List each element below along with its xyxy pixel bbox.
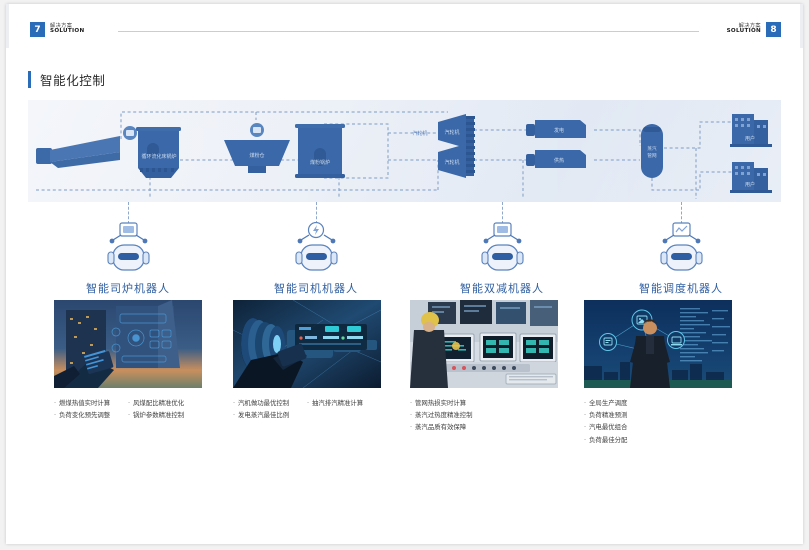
diagram-label-user-2: 用户 [745, 181, 755, 188]
card-bullets-3: 管网热损实时计算 蒸汽过热度精准控制 蒸汽品质有效保障 [410, 397, 558, 434]
page-title: 智能化控制 [40, 70, 106, 89]
robot-label-3: 智能双减机器人 [408, 280, 596, 296]
diagram-label-turbine-1: 汽轮机 [444, 129, 459, 136]
card-photo-2 [233, 300, 381, 388]
diagram-label-turbine-2: 汽轮机 [444, 159, 459, 166]
card-photo-3 [410, 300, 558, 388]
diagram-label-steam-header-1: 蒸汽 [647, 145, 657, 152]
bullet-item: 发电蒸汽最佳比例 [233, 409, 307, 421]
robot-row: 智能司炉机器人 智能司机机器人 [28, 202, 781, 298]
diagram-label-generator-1: 发电 [554, 127, 564, 134]
header-left-badge: 7 [30, 22, 45, 37]
header-edge-right [800, 4, 803, 48]
bullet-item: 负荷精准预测 [584, 409, 732, 421]
robot-icon-2 [288, 222, 344, 280]
section-title: 智能化控制 [28, 70, 106, 89]
robot-label-1: 智能司炉机器人 [34, 280, 222, 296]
diagram-label-steam-header-2: 管网 [647, 152, 657, 159]
header-left-group: 7 解决方案 SOLUTION [30, 22, 84, 37]
header-divider [118, 31, 699, 32]
header-right-text: 解决方案 SOLUTION [727, 24, 761, 35]
process-diagram-svg: 循环流化床锅炉 煤粉仓 煤粉锅炉 汽轮机 [28, 100, 781, 202]
bullet-item: 负荷变化预先调整 [54, 409, 128, 421]
robot-label-2: 智能司机机器人 [222, 280, 410, 296]
slide-header: 7 解决方案 SOLUTION 解决方案 SOLUTION 8 [6, 4, 803, 48]
bullet-item: 蒸汽过热度精准控制 [410, 409, 558, 421]
process-diagram: 循环流化床锅炉 煤粉仓 煤粉锅炉 汽轮机 [28, 100, 781, 202]
robot-drop-line-2 [316, 202, 317, 224]
bullet-item: 全局生产调度 [584, 397, 732, 409]
bullet-item: 燃煤热值实时计算 [54, 397, 128, 409]
diagram-label-coal-bunker: 煤粉仓 [249, 152, 264, 159]
robot-drop-line-1 [128, 202, 129, 224]
card-photo-1 [54, 300, 202, 388]
card-bullets-4: 全局生产调度 负荷精准预测 汽电最优组合 负荷最佳分配 [584, 397, 732, 446]
card-1: 燃煤热值实时计算 风煤配比精准优化 负荷变化预先调整 锅炉参数精准控制 [54, 300, 202, 421]
robot-drop-line-3 [502, 202, 503, 224]
card-row: 燃煤热值实时计算 风煤配比精准优化 负荷变化预先调整 锅炉参数精准控制 [28, 300, 781, 450]
diagram-node-steam-header: 蒸汽 管网 [641, 124, 663, 178]
header-left-text: 解决方案 SOLUTION [50, 24, 84, 35]
diagram-label-pulverized-boiler: 煤粉锅炉 [310, 159, 330, 166]
header-left-en: SOLUTION [50, 29, 84, 35]
card-photo-4 [584, 300, 732, 388]
header-edge-left [6, 4, 9, 48]
card-bullets-1: 燃煤热值实时计算 风煤配比精准优化 负荷变化预先调整 锅炉参数精准控制 [54, 397, 202, 421]
bullet-item: 汽电最优组合 [584, 421, 732, 433]
robot-label-4: 智能调度机器人 [587, 280, 775, 296]
diagram-node-generator-1: 发电 [526, 120, 586, 138]
bullet-item: 负荷最佳分配 [584, 434, 732, 446]
diagram-label-generator-2: 供热 [554, 157, 564, 164]
diagram-label-steam: 汽轮机 [412, 130, 427, 137]
bullet-item: 抽汽排汽精准计算 [307, 397, 381, 409]
bullet-item: 风煤配比精准优化 [128, 397, 202, 409]
robot-icon-1 [100, 222, 156, 280]
robot-drop-line-4 [681, 202, 682, 224]
card-2: 汽机做功最优控制 抽汽排汽精准计算 发电蒸汽最佳比例 [233, 300, 381, 421]
bullet-item: 管网热损实时计算 [410, 397, 558, 409]
slide: 7 解决方案 SOLUTION 解决方案 SOLUTION 8 智能化控制 [6, 4, 803, 544]
bullet-item: 蒸汽品质有效保障 [410, 421, 558, 433]
header-right-en: SOLUTION [727, 29, 761, 35]
card-bullets-2: 汽机做功最优控制 抽汽排汽精准计算 发电蒸汽最佳比例 [233, 397, 381, 421]
diagram-node-pulverized-boiler: 煤粉锅炉 [295, 124, 345, 178]
robot-icon-4 [653, 222, 709, 280]
bullet-item: 汽机做功最优控制 [233, 397, 307, 409]
card-3: 管网热损实时计算 蒸汽过热度精准控制 蒸汽品质有效保障 [410, 300, 558, 434]
diagram-node-generator-2: 供热 [526, 150, 586, 168]
bullet-item: 锅炉参数精准控制 [128, 409, 202, 421]
section-accent-bar [28, 71, 31, 88]
diagram-label-cfb-boiler: 循环流化床锅炉 [141, 153, 176, 160]
diagram-label-user-1: 用户 [745, 135, 755, 142]
header-right-badge: 8 [766, 22, 781, 37]
header-right-group: 解决方案 SOLUTION 8 [727, 22, 781, 37]
robot-icon-3 [474, 222, 530, 280]
card-4: 全局生产调度 负荷精准预测 汽电最优组合 负荷最佳分配 [584, 300, 732, 446]
